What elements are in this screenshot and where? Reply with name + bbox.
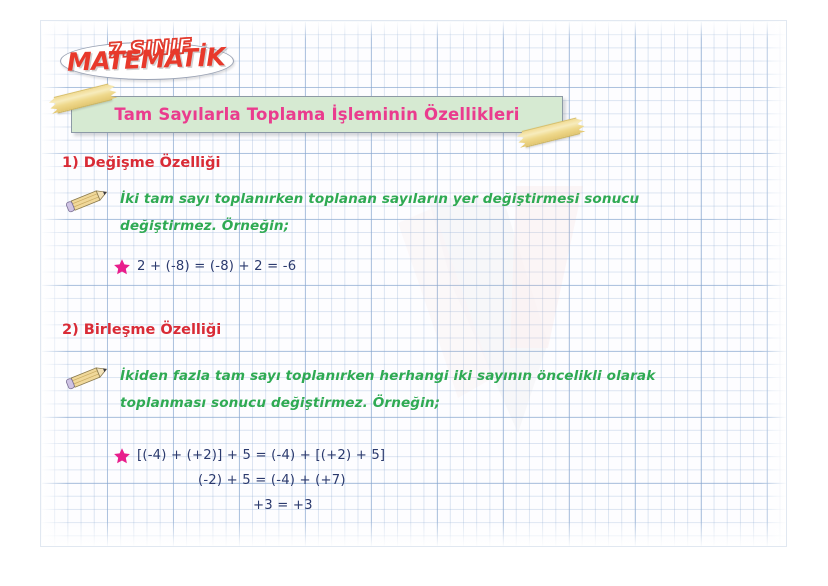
star-bullet-icon [113,258,131,276]
logo-subject-text: MATEMATİK [62,42,231,77]
example-line: +3 = +3 [253,498,313,513]
section-explanation-2: İkiden fazla tam sayı toplanırken herhan… [120,363,760,417]
slide-page: 7.SINIF MATEMATİK Tam Sayılarla Toplama … [0,0,828,586]
pencil-icon [64,186,110,214]
example-line: 2 + (-8) = (-8) + 2 = -6 [137,259,296,274]
page-title: Tam Sayılarla Toplama İşleminin Özellikl… [114,105,519,124]
explanation-line: değiştirmez. Örneğin; [120,213,760,240]
pencil-icon [64,363,110,391]
title-banner-box: Tam Sayılarla Toplama İşleminin Özellikl… [71,96,563,133]
example-line: (-2) + 5 = (-4) + (+7) [198,473,346,488]
brand-logo: 7.SINIF MATEMATİK [52,18,247,80]
example-line: [(-4) + (+2)] + 5 = (-4) + [(+2) + 5] [137,448,385,463]
section-explanation-1: İki tam sayı toplanırken toplanan sayıla… [120,186,760,240]
explanation-line: İki tam sayı toplanırken toplanan sayıla… [120,186,760,213]
section-heading-2: 2) Birleşme Özelliği [62,322,221,338]
star-bullet-icon [113,447,131,465]
title-banner: Tam Sayılarla Toplama İşleminin Özellikl… [71,96,563,133]
explanation-line: toplanması sonucu değiştirmez. Örneğin; [120,390,760,417]
section-heading-1: 1) Değişme Özelliği [62,155,220,171]
explanation-line: İkiden fazla tam sayı toplanırken herhan… [120,363,760,390]
